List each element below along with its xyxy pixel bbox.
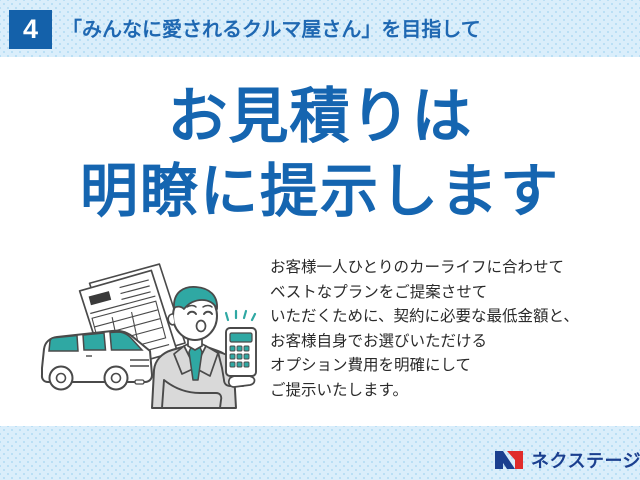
- headline-line-2: 明瞭に提示します: [0, 160, 640, 224]
- body-copy-line-3: いただくために、契約に必要な最低金額と、: [270, 305, 630, 330]
- promo-slide: 4 「みんなに愛されるクルマ屋さん」を目指して お見積りは 明瞭に提示します: [0, 0, 640, 480]
- body-copy: お客様一人ひとりのカーライフに合わせて ベストなプランをご提案させて いただくた…: [270, 256, 630, 404]
- body-copy-line-5: オプション費用を明確にして: [270, 354, 630, 379]
- body-copy-line-4: お客様自身でお選びいただける: [270, 330, 630, 355]
- illustration-svg: [34, 256, 266, 416]
- calculator-icon: [226, 328, 256, 376]
- body-copy-line-6: ご提示いたします。: [270, 379, 630, 404]
- sparkle-icon: [226, 311, 255, 320]
- illustration-estimate-staff: [34, 256, 266, 416]
- body-copy-line-2: ベストなプランをご提案させて: [270, 281, 630, 306]
- step-number-badge: 4: [9, 10, 52, 49]
- nextage-n-logo-icon: [494, 448, 524, 472]
- van-icon: [42, 331, 152, 390]
- brand-name: ネクステージ: [531, 447, 640, 473]
- brand-logo: ネクステージ: [494, 447, 640, 473]
- header-title: 「みんなに愛されるクルマ屋さん」を目指して: [62, 13, 481, 47]
- headline-line-1: お見積りは: [0, 84, 640, 150]
- body-copy-line-1: お客様一人ひとりのカーライフに合わせて: [270, 256, 630, 281]
